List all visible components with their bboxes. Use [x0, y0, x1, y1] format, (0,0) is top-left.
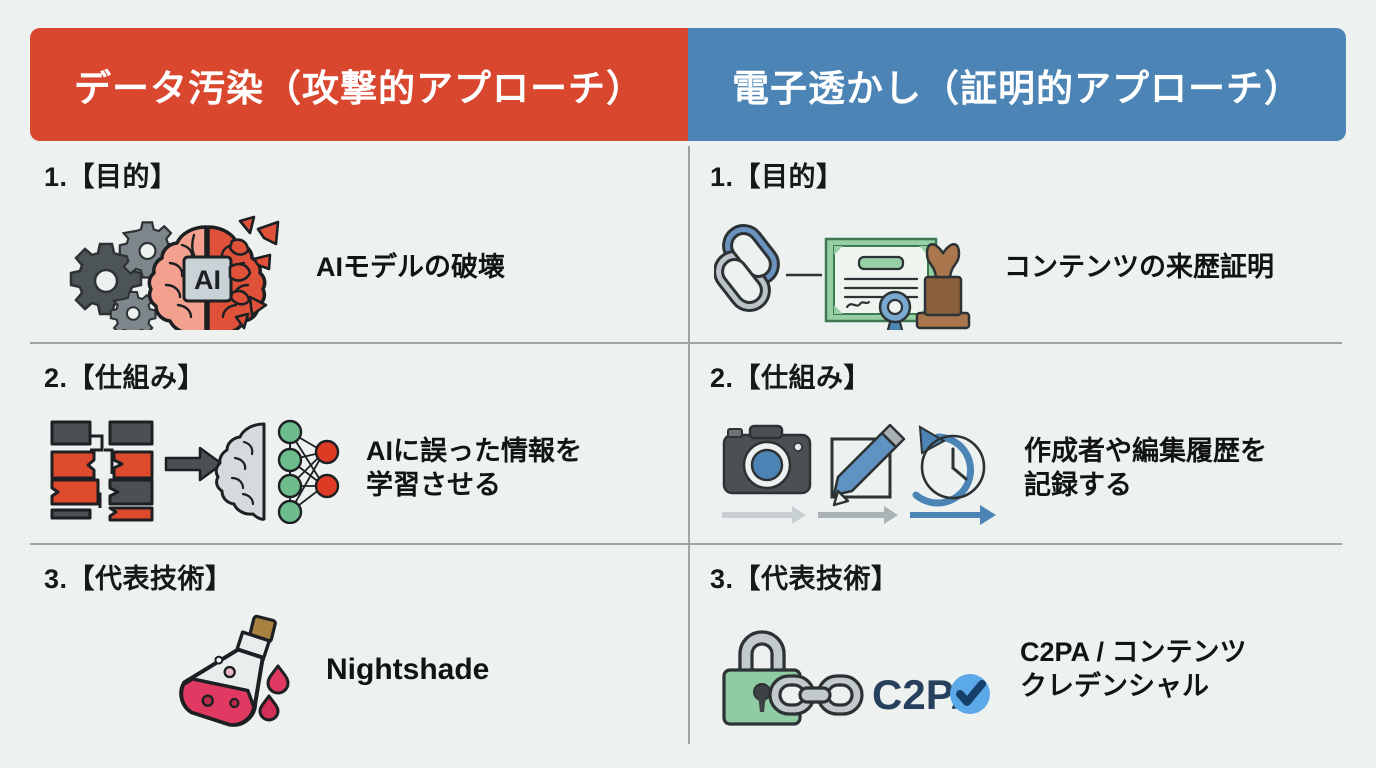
- row1-right-text: コンテンツの来歴証明: [1004, 251, 1274, 285]
- column-header-watermark: 電子透かし（証明的アプローチ）: [688, 28, 1346, 141]
- column-header-data-poisoning: データ汚染（攻撃的アプローチ）: [30, 28, 688, 141]
- row3-right-label: 3.【代表技術】: [710, 557, 899, 596]
- chain-certificate-stamp-icon: [714, 205, 982, 330]
- row1-left-label: 1.【目的】: [44, 155, 178, 194]
- cell-row3-left: 3.【代表技術】: [0, 543, 688, 744]
- svg-text:AI: AI: [194, 265, 221, 295]
- row2-left-text: AIに誤った情報を 学習させる: [366, 435, 582, 503]
- comparison-grid: 1.【目的】: [0, 141, 1376, 768]
- row2-right-text: 作成者や編集履歴を 記録する: [1024, 435, 1267, 503]
- row2-right-body: 作成者や編集履歴を 記録する: [714, 398, 1366, 539]
- cell-row1-left: 1.【目的】: [0, 141, 688, 342]
- row3-left-text: Nightshade: [326, 651, 489, 689]
- cell-row2-right: 2.【仕組み】: [688, 342, 1376, 543]
- padlock-chain-c2pa-icon: C2PA: [708, 614, 998, 726]
- row1-left-body: AI AIモデルの破壊: [44, 197, 678, 338]
- cell-row3-right: 3.【代表技術】: [688, 543, 1376, 744]
- column-header-label: データ汚染（攻撃的アプローチ）: [74, 58, 644, 112]
- column-header-label: 電子透かし（証明的アプローチ）: [732, 58, 1302, 112]
- ai-brain-shatter-icon: AI: [44, 205, 294, 330]
- slide-canvas: データ汚染（攻撃的アプローチ） 電子透かし（証明的アプローチ） 1.【目的】: [0, 0, 1376, 768]
- row1-right-body: コンテンツの来歴証明: [714, 197, 1366, 338]
- row3-right-text: C2PA / コンテンツ クレデンシャル: [1020, 636, 1247, 704]
- cell-row1-right: 1.【目的】: [688, 141, 1376, 342]
- row2-left-body: AIに誤った情報を 学習させる: [44, 398, 678, 539]
- row3-left-label: 3.【代表技術】: [44, 557, 233, 596]
- row1-right-label: 1.【目的】: [710, 155, 844, 194]
- row1-left-text: AIモデルの破壊: [316, 251, 505, 285]
- row3-right-body: C2PA C2PA / コンテンツ クレデンシャル: [708, 599, 1366, 740]
- poisoned-dataset-to-neural-network-icon: [44, 414, 344, 524]
- row2-left-label: 2.【仕組み】: [44, 356, 205, 395]
- camera-edit-history-icon: [714, 413, 1002, 525]
- poison-flask-icon: [174, 610, 304, 730]
- comparison-header-row: データ汚染（攻撃的アプローチ） 電子透かし（証明的アプローチ）: [30, 28, 1346, 141]
- cell-row2-left: 2.【仕組み】: [0, 342, 688, 543]
- row3-left-body: Nightshade: [44, 599, 678, 740]
- row2-right-label: 2.【仕組み】: [710, 356, 871, 395]
